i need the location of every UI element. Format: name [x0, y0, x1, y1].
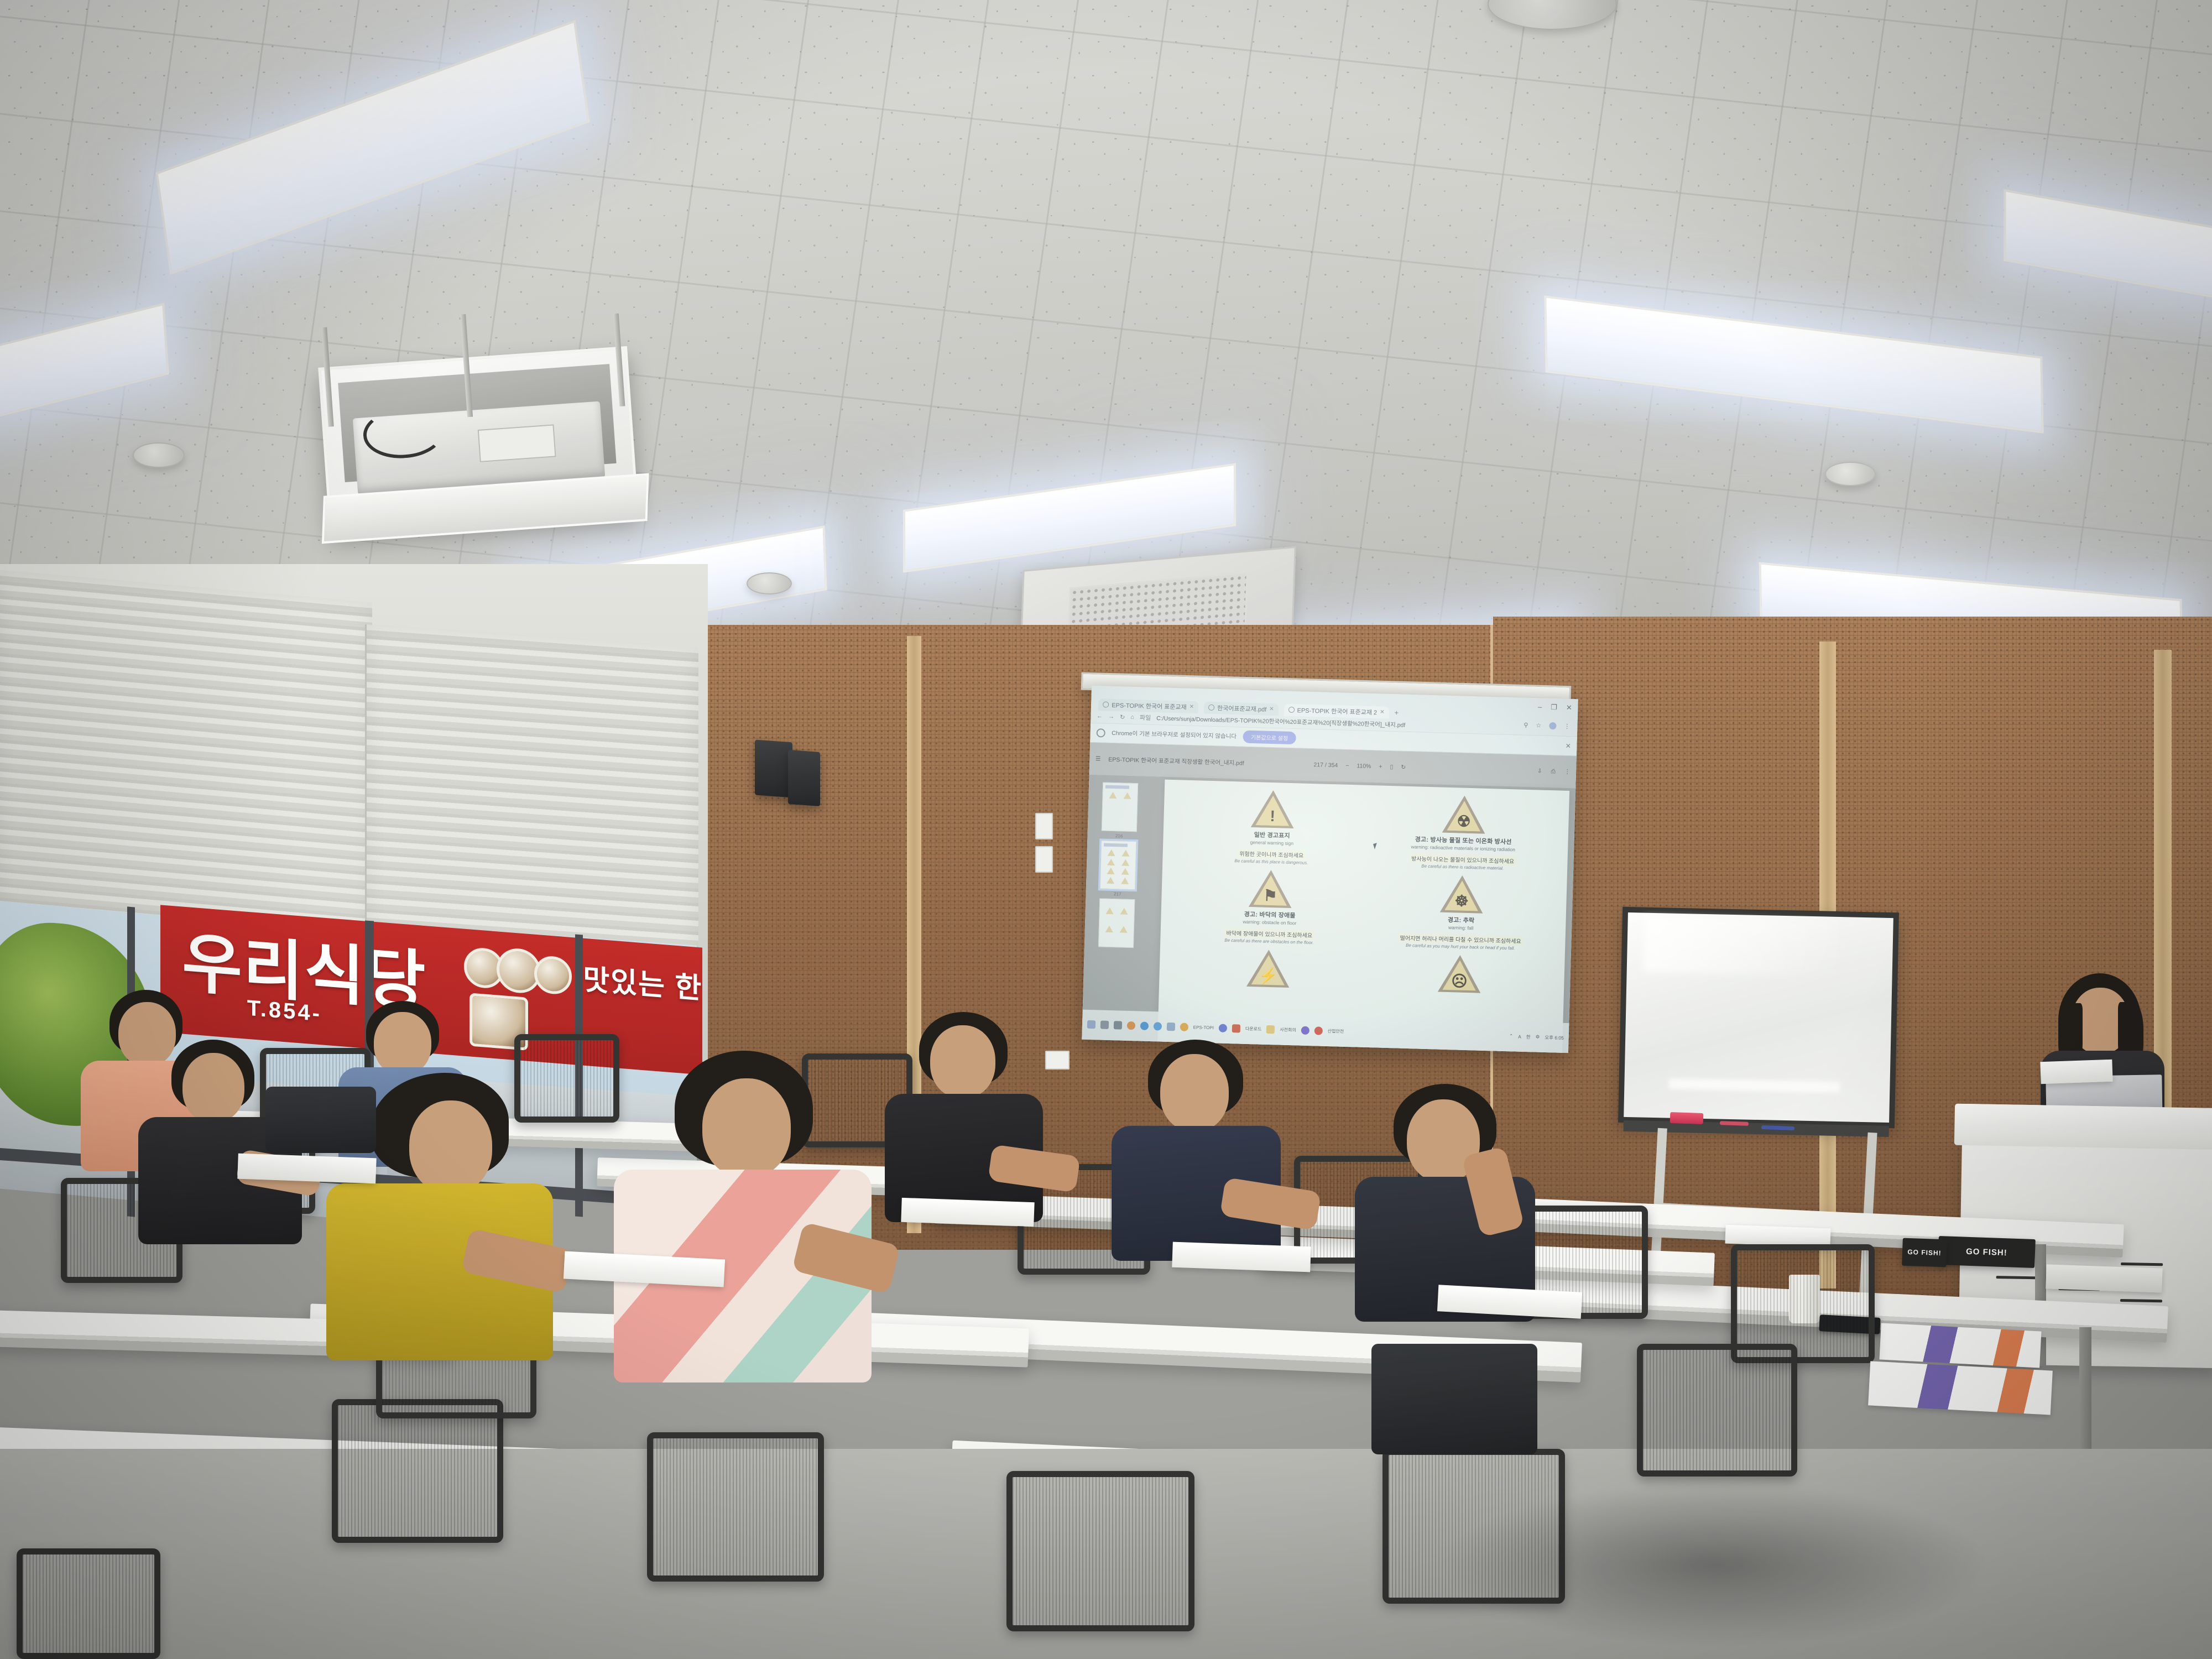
reload-icon[interactable]: ↻: [1120, 713, 1125, 721]
window-blind-2[interactable]: [365, 624, 698, 957]
whiteboard: [1618, 907, 1899, 1128]
window-controls[interactable]: – ❐ ✕: [1538, 703, 1572, 713]
profile-icon[interactable]: [1549, 722, 1556, 729]
tray-chevron-icon[interactable]: ⌃: [1509, 1033, 1513, 1039]
chrome-icon[interactable]: [1180, 1023, 1188, 1031]
floor-shadow: [1438, 1482, 1991, 1648]
taskbar-item-label[interactable]: 산업안전: [1328, 1028, 1344, 1035]
search-icon[interactable]: [1100, 1021, 1109, 1029]
warning-triangle-icon: !: [1251, 790, 1295, 828]
tab-close-icon[interactable]: ✕: [1380, 709, 1385, 715]
browser-toolbar-icons[interactable]: ⚲ ☆ ⋮: [1524, 722, 1570, 730]
warning-sign-grid: ! 일반 경고표지 general warning sign 위험한 곳이니까 …: [1180, 788, 1553, 987]
tab-close-icon[interactable]: ✕: [1190, 704, 1194, 710]
teams-icon[interactable]: [1301, 1026, 1310, 1035]
student-head: [1160, 1054, 1229, 1131]
start-button[interactable]: [1087, 1020, 1095, 1029]
lectern-slot: [2120, 1299, 2162, 1302]
student-head: [409, 1100, 492, 1193]
student-head: [374, 1012, 431, 1075]
tab-label: 한국어표준교재.pdf: [1217, 703, 1267, 713]
banner-phone-text: T.854-: [247, 996, 322, 1027]
smoke-detector-2: [747, 572, 792, 594]
menu-icon[interactable]: ⋮: [1564, 723, 1570, 730]
radiation-triangle-icon: ☢: [1442, 795, 1486, 834]
worksheet-navy-student: [1172, 1242, 1311, 1272]
more-options-icon[interactable]: ⋮: [1564, 768, 1571, 775]
pdf-thumbnail-page-label: 216: [1115, 833, 1123, 838]
pdf-thumbnail[interactable]: [1098, 898, 1135, 948]
minimize-icon[interactable]: –: [1538, 703, 1542, 712]
chair-right-3[interactable]: [1637, 1344, 1797, 1477]
wall-outlet-right[interactable]: [1045, 1051, 1070, 1070]
student-black-polo: [885, 1012, 1045, 1222]
wall-speaker-left: [755, 740, 792, 798]
danger-triangle-icon: ☹: [1437, 954, 1481, 993]
browser-tab-2[interactable]: 한국어표준교재.pdf ✕: [1204, 701, 1279, 716]
sign-glyph: ⚑: [1249, 888, 1292, 904]
warning-sign-card-partial: ☹: [1371, 953, 1548, 998]
zoom-out-button[interactable]: −: [1345, 763, 1349, 769]
zoom-level: 110%: [1357, 763, 1371, 770]
chair-front-center[interactable]: [1006, 1471, 1194, 1631]
fit-page-icon[interactable]: ▯: [1390, 764, 1393, 770]
sign-glyph: ☹: [1438, 973, 1481, 989]
go-fish-label: GO FISH!: [1966, 1246, 2007, 1258]
warning-sign-card: ☢ 경고: 방사능 물질 또는 이온화 방사선 warning: radioac…: [1374, 793, 1553, 872]
explorer-icon[interactable]: [1167, 1022, 1175, 1031]
student-head: [930, 1025, 995, 1098]
zoom-in-button[interactable]: +: [1379, 764, 1382, 770]
ceiling-projector: [318, 346, 639, 533]
student-navy-shirt: [1112, 1040, 1283, 1261]
download-icon[interactable]: ⇩: [1537, 768, 1542, 775]
home-icon[interactable]: ⌂: [1130, 714, 1134, 721]
window-blind-1[interactable]: [0, 570, 372, 946]
lectern-top-edge: [1954, 1104, 2212, 1150]
tab-label: EPS-TOPIK 한국어 표준교재 2: [1297, 706, 1377, 717]
chrome-badge-icon: [1096, 728, 1105, 737]
chair-front-center-2[interactable]: [647, 1432, 824, 1582]
go-fish-box: GO FISH!: [1938, 1236, 2036, 1268]
browser-tab-1[interactable]: EPS-TOPIK 한국어 표준교재 ✕: [1098, 698, 1198, 713]
whiteboard-eraser[interactable]: [1670, 1112, 1704, 1124]
star-icon[interactable]: ☆: [1536, 722, 1541, 729]
student-head: [702, 1078, 791, 1178]
browser-tab-3-active[interactable]: EPS-TOPIK 한국어 표준교재 2 ✕: [1284, 703, 1389, 718]
sign-glyph: ☢: [1442, 813, 1486, 830]
go-fish-box-2: GO FISH!: [1902, 1238, 1947, 1267]
wall-speaker-right: [788, 750, 820, 806]
sign-note-ko: 위험한 곳이니까 조심하세요: [1237, 848, 1306, 859]
backpack-2: [265, 1087, 376, 1153]
worksheet-left: [237, 1154, 376, 1184]
print-icon[interactable]: ⎙: [1551, 768, 1556, 775]
pdf-page-indicator: 217 / 354: [1313, 761, 1338, 769]
taskbar-item-label[interactable]: 사전회의: [1280, 1027, 1296, 1034]
infobar-close-icon[interactable]: ✕: [1566, 742, 1571, 750]
sidebar-toggle-icon[interactable]: ☰: [1095, 755, 1101, 762]
taskbar-clock[interactable]: 오후 6:05: [1545, 1034, 1564, 1041]
forward-icon[interactable]: →: [1108, 713, 1114, 720]
pdf-page-area: ! 일반 경고표지 general warning sign 위험한 곳이니까 …: [1145, 776, 1576, 1053]
pdf-thumbnail-sidebar[interactable]: 216 217: [1082, 775, 1152, 1042]
sign-glyph: !: [1251, 808, 1295, 825]
ppt-icon[interactable]: [1232, 1024, 1240, 1032]
student-tie-dye-shirt: [614, 1051, 874, 1383]
fall-triangle-icon: ☸: [1439, 875, 1484, 914]
maximize-icon[interactable]: ❐: [1551, 703, 1557, 712]
system-tray[interactable]: ⌃ A 한 ⚙ 오후 6:05: [1509, 1033, 1564, 1041]
tab-close-icon[interactable]: ✕: [1269, 706, 1274, 712]
set-default-button[interactable]: 기본값으로 설정: [1243, 731, 1296, 745]
pdf-filename: EPS-TOPIK 한국어 표준교재 직장생활 한국어_내지.pdf: [1108, 755, 1244, 767]
go-fish-label-2: GO FISH!: [1907, 1248, 1942, 1257]
book-stack-right: [2046, 1264, 2162, 1292]
warning-sign-card: ⚑ 경고: 바닥의 장애물 warning: obstacle on floor…: [1181, 868, 1359, 947]
taskbar-item-label[interactable]: 다운로드: [1245, 1026, 1262, 1032]
close-icon[interactable]: ✕: [1566, 703, 1572, 712]
pdf-thumbnail-page-label: 217: [1114, 891, 1121, 896]
lectern-papers: [2040, 1060, 2112, 1084]
lectern-slot: [2121, 1262, 2162, 1266]
taskbar-item-label[interactable]: EPS-TOPI: [1193, 1025, 1214, 1031]
sign-glyph: ☸: [1440, 893, 1484, 910]
search-icon[interactable]: ⚲: [1524, 722, 1528, 729]
tab-label: EPS-TOPIK 한국어 표준교재: [1112, 700, 1187, 711]
classroom-scene: 우리식당 T.854- 맛있는 한식 – ❐ ✕ EPS: [0, 0, 2212, 1659]
smoke-detector-1: [133, 442, 185, 468]
warning-sign-card: ☸ 경고: 추락 warning: fall 떨어지면 허리나 머리를 다칠 수…: [1372, 873, 1551, 952]
wall-switch-panel-1[interactable]: [1035, 813, 1053, 839]
tab-favicon: [1208, 705, 1214, 711]
pdf-thumbnail-selected[interactable]: [1100, 840, 1136, 890]
pdf-page-217: ! 일반 경고표지 general warning sign 위험한 곳이니까 …: [1157, 779, 1569, 1053]
chair-nearest-left[interactable]: [17, 1548, 160, 1659]
safety-app-icon[interactable]: [1314, 1027, 1323, 1035]
brochure-front: [1868, 1361, 2053, 1415]
warning-sign-card-partial: ⚡: [1180, 947, 1357, 993]
app-icon[interactable]: [1219, 1024, 1227, 1032]
tab-favicon: [1103, 701, 1109, 707]
smoke-detector-3: [1825, 462, 1876, 486]
mail-icon[interactable]: [1154, 1022, 1162, 1030]
whiteboard-glare: [1644, 916, 1838, 976]
edge-icon[interactable]: [1140, 1022, 1149, 1030]
worksheet-center: [901, 1198, 1034, 1227]
infobar-message: Chrome이 기본 브라우저로 설정되어 있지 않습니다: [1112, 729, 1237, 740]
backpack: [1371, 1344, 1537, 1454]
desk-leg: [2079, 1327, 2091, 1460]
ime-korean-icon[interactable]: 한: [1526, 1034, 1531, 1040]
chair-front-left[interactable]: [332, 1399, 503, 1543]
file-protocol-label: 파일: [1140, 713, 1151, 722]
banner-food-photo-3: [534, 954, 572, 995]
sign-glyph: ⚡: [1246, 968, 1290, 984]
pdf-thumbnail[interactable]: [1102, 782, 1138, 832]
student-head: [182, 1053, 244, 1123]
widgets-icon[interactable]: [1127, 1021, 1135, 1030]
rotate-icon[interactable]: ↻: [1401, 764, 1406, 771]
projected-browser-window: – ❐ ✕ EPS-TOPIK 한국어 표준교재 ✕ 한국어표준교재.pdf ✕: [1082, 686, 1578, 1053]
settings-icon[interactable]: ⚙: [1536, 1034, 1540, 1040]
folder-icon[interactable]: [1266, 1025, 1275, 1034]
lectern-slot: [1996, 1276, 2037, 1279]
electric-shock-triangle-icon: ⚡: [1246, 949, 1291, 988]
warning-sign-card: ! 일반 경고표지 general warning sign 위험한 곳이니까 …: [1183, 788, 1361, 867]
brochure: [1879, 1323, 2041, 1368]
tab-favicon: [1288, 707, 1294, 713]
ime-latin-icon[interactable]: A: [1518, 1034, 1521, 1039]
back-icon[interactable]: ←: [1097, 713, 1103, 719]
task-view-icon[interactable]: [1114, 1021, 1122, 1029]
obstacle-triangle-icon: ⚑: [1249, 869, 1293, 908]
projection-screen: – ❐ ✕ EPS-TOPIK 한국어 표준교재 ✕ 한국어표준교재.pdf ✕: [1082, 686, 1578, 1053]
banner-right-text: 맛있는 한식: [583, 956, 702, 1009]
new-tab-button[interactable]: +: [1394, 708, 1399, 717]
wall-switch-panel-2[interactable]: [1035, 846, 1053, 873]
